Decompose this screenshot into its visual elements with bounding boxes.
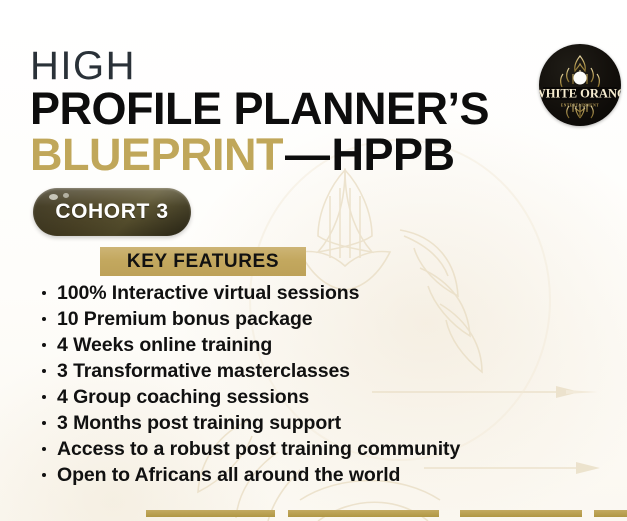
logo-primary-text: WHITE ORANG: [539, 86, 621, 100]
list-item: 4 Group coaching sessions: [40, 384, 600, 410]
list-item: 4 Weeks online training: [40, 332, 600, 358]
list-item-label: Access to a robust post training communi…: [57, 438, 460, 460]
list-item: Open to Africans all around the world: [40, 462, 600, 488]
list-item-label: 3 Transformative masterclasses: [57, 360, 350, 382]
bottom-rule-segment: [460, 510, 582, 517]
list-item-label: 4 Group coaching sessions: [57, 386, 309, 408]
headline-em-dash: —: [283, 129, 332, 180]
bullet-dot-icon: [42, 473, 46, 477]
list-item-label: 3 Months post training support: [57, 412, 341, 434]
list-item: 100% Interactive virtual sessions: [40, 280, 600, 306]
bottom-gold-rule: [0, 509, 627, 517]
bullet-dot-icon: [42, 317, 46, 321]
bullet-dot-icon: [42, 395, 46, 399]
bullet-dot-icon: [42, 421, 46, 425]
key-features-list: 100% Interactive virtual sessions 10 Pre…: [40, 280, 600, 488]
bullet-dot-icon: [42, 291, 46, 295]
list-item-label: 100% Interactive virtual sessions: [57, 282, 359, 304]
list-item: 10 Premium bonus package: [40, 306, 600, 332]
list-item-label: 10 Premium bonus package: [57, 308, 313, 330]
list-item-label: Open to Africans all around the world: [57, 464, 400, 486]
list-item-label: 4 Weeks online training: [57, 334, 272, 356]
headline-blueprint-word: BLUEPRINT: [30, 129, 283, 180]
headline-block: HIGH PROFILE PLANNER’S BLUEPRINT—HPPB: [30, 46, 540, 179]
badge-gloss-highlight-secondary-icon: [63, 193, 69, 198]
bullet-dot-icon: [42, 343, 46, 347]
brand-logo-badge: WHITE ORANG ENTERTAINMENT: [539, 44, 621, 126]
list-item: 3 Transformative masterclasses: [40, 358, 600, 384]
bottom-rule-segment: [288, 510, 439, 517]
headline-line-blueprint: BLUEPRINT—HPPB: [30, 131, 540, 179]
cohort-badge-label: COHORT 3: [55, 200, 168, 224]
list-item: Access to a robust post training communi…: [40, 436, 600, 462]
bottom-rule-segment: [146, 510, 275, 517]
headline-line-high: HIGH: [30, 46, 540, 86]
key-features-banner: KEY FEATURES: [100, 247, 306, 276]
bottom-rule-segment: [594, 510, 627, 517]
bullet-dot-icon: [42, 447, 46, 451]
list-item: 3 Months post training support: [40, 410, 600, 436]
headline-hppb-acronym: HPPB: [332, 129, 455, 180]
cohort-badge: COHORT 3: [33, 188, 191, 236]
headline-line-profile: PROFILE PLANNER’S: [30, 84, 540, 134]
bullet-dot-icon: [42, 369, 46, 373]
key-features-banner-label: KEY FEATURES: [127, 251, 279, 273]
flyer-canvas: HIGH PROFILE PLANNER’S BLUEPRINT—HPPB CO…: [0, 0, 627, 521]
